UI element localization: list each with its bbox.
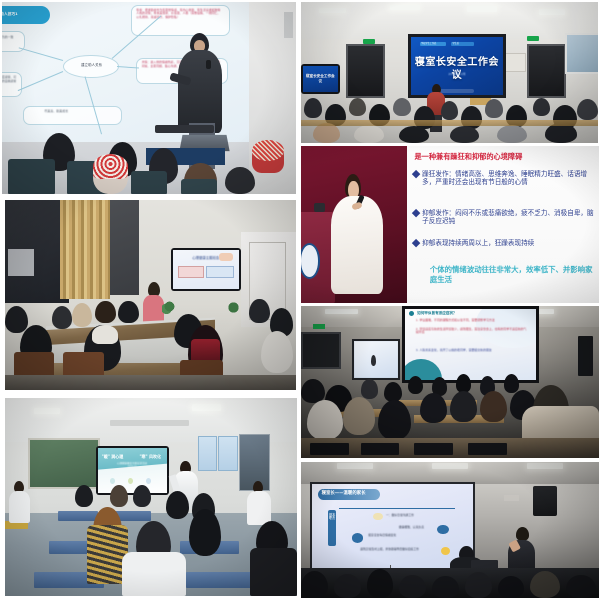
wall-poster [198, 436, 218, 472]
led-presentation-screen: 学校学生工作处 学生处 寝室长安全工作会议 2024年12月 [408, 34, 506, 98]
classroom-door [527, 44, 567, 97]
wall-display: 心理健康主题班会 [171, 248, 241, 292]
slide-heading: 是一种兼有躁狂和抑郁的心境障碍 [414, 152, 595, 161]
led-subtitle: 2024年12月 [439, 73, 476, 77]
side-monitor-title: 寝室长安全工作会议 [304, 74, 336, 83]
slide-side-label: 基本职责 [329, 514, 335, 521]
wall-poster [218, 436, 238, 472]
presentation-screen: "暖" 润心理 "寒" 风吹化 心理健康教育主题宣讲活动 2024.12 [96, 446, 169, 496]
mindmap-node-1-label: 尊重：把求助者作为有思想情感、有内心体验、有生活追求和独特人格的对象；尊重其现状… [136, 9, 223, 19]
projected-slide: 是一种兼有躁狂和抑郁的心境障碍 躁狂发作：情绪高涨、思维奔逸、睡眠精力旺盛、话语… [407, 146, 599, 303]
side-monitor: 寝室长安全工作会议 [301, 64, 340, 94]
panel-mood-disorder-slide: 是一种兼有躁狂和抑郁的心境障碍 躁狂发作：情绪高涨、思维奔逸、睡眠精力旺盛、话语… [301, 146, 599, 303]
mindmap-node-5-label: 尽其责、助其成长 [44, 110, 114, 114]
slide-footer: 个体的情绪波动往往非常大，效率低下、并影响家庭生活 [430, 265, 599, 284]
slide-title: 寝室长——温暖的家长 [322, 491, 377, 497]
led-org-right: 学生处 [452, 43, 459, 46]
photo-collage: 白助助人技巧1 建立助人关系 尊重：把求助者作为有思想情感、有内心体验、有生活追… [0, 0, 600, 600]
slide-item-3: 留意室友每日情绪变化 [368, 534, 432, 537]
mindmap-link [19, 48, 63, 62]
panel-lab-classroom-session: "暖" 润心理 "寒" 风吹化 心理健康教育主题宣讲活动 2024.12 [5, 398, 297, 596]
slide-date: 2024.12 [125, 466, 139, 469]
slide-title: 如何甲似曾有适应症状？ [417, 311, 519, 315]
slide-bullet-3: 抑郁表现持续两周以上，狂躁表现持续 [422, 239, 597, 247]
slide-bullet-3: 3. 人际关系变化，离开了以前的老同学，需要结交新的朋友 [416, 349, 529, 353]
slide-title-right: "寒" 风吹化 [139, 454, 161, 459]
slide-bullet-2: 抑郁发作：闷闷不乐或悲痛欲绝，疲不乏力、消极自卑，脑子反应迟钝 [422, 209, 597, 225]
main-presentation-screen: 如何甲似曾有适应症状？ 1. 学业困难，不同的课程方式和以往不同，需要调整学习方… [402, 306, 539, 383]
mindmap-node-4-label: 对方的角度感受、可使用对方的自我感受 [2, 76, 17, 83]
slide-bullet-2: 2. 环境适应与新的生活环境较少，感到陌生，需注意饮食上，也有的同学不适应新的气… [416, 328, 529, 335]
slide-bullet-1: 1. 学业困难，不同的课程方式和以往不同，需要调整学习方法 [416, 319, 529, 323]
side-monitor [352, 339, 401, 379]
audio-speaker [533, 486, 557, 516]
panel-helping-relationship-lecture: 白助助人技巧1 建立助人关系 尊重：把求助者作为有思想情感、有内心体验、有生活追… [2, 2, 296, 194]
led-title: 寝室长安全工作会议 [415, 57, 500, 82]
exit-sign [527, 36, 539, 42]
mindmap-node-5 [23, 106, 122, 126]
classroom-door [346, 44, 386, 97]
stage-area [301, 146, 408, 303]
slide-item-2: 做事细致、认真负责 [399, 526, 434, 529]
slide-title-left: "暖" 润心理 [102, 454, 124, 459]
led-org-left: 学校学生工作处 [421, 43, 436, 46]
slide-item-4: 遇到异常及时上报，并协助辅导员做好后续工作 [360, 548, 437, 551]
slide-item-1: 一：做好日常沟通工作 [386, 514, 450, 517]
panel-dorm-head-role-slide: 寝室长——温暖的家长 基本职责 一：做好日常沟通工作 做事细致、认真负责 留意室… [301, 462, 599, 598]
panel-dorm-head-safety-meeting: 学校学生工作处 学生处 寝室长安全工作会议 2024年12月 寝室长安全工作会议 [301, 2, 598, 143]
projected-slide: 寝室长——温暖的家长 基本职责 一：做好日常沟通工作 做事细致、认真负责 留意室… [310, 482, 475, 572]
window-curtain [60, 200, 109, 299]
exit-sign [313, 324, 325, 329]
mindmap-link [18, 71, 63, 91]
institution-emblem [301, 243, 320, 278]
mindmap-node-3-label: 态度和行为的一致 [2, 36, 20, 39]
chalkboard [28, 438, 99, 490]
mindmap-center-label: 建立助人关系 [69, 63, 115, 67]
slide-bullet-1: 躁狂发作：情绪高涨、思维奔逸、睡眠精力旺盛、话语增多，严重时还会出现有节日般的心… [422, 170, 597, 186]
slide-corner-tag-label: 白助助人技巧1 [2, 12, 47, 16]
panel-dark-lecture-hall: 如何甲似曾有适应症状？ 1. 学业困难，不同的课程方式和以往不同，需要调整学习方… [301, 306, 599, 458]
panel-boardroom-meeting: 心理健康主题班会 [5, 200, 296, 390]
